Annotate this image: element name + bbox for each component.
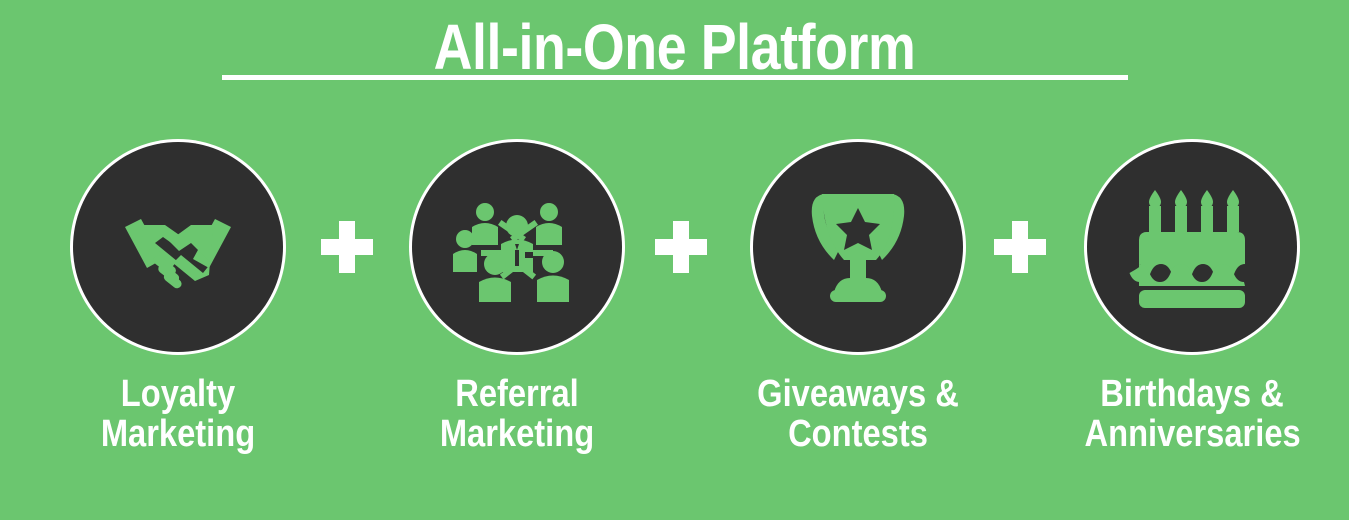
pillar-referral-marketing[interactable]: Referral Marketing [392, 142, 642, 454]
pillar-icon-circle [753, 142, 963, 352]
plus-separator-2 [655, 221, 707, 273]
pillar-giveaways-contests[interactable]: Giveaways & Contests [733, 142, 983, 454]
header: All-in-One Platform [0, 14, 1349, 80]
title-underline [222, 75, 1128, 80]
pillar-icon-circle [73, 142, 283, 352]
pillar-label: Giveaways & Contests [751, 374, 966, 454]
pillar-label: Birthdays & Anniversaries [1085, 374, 1300, 454]
pillar-loyalty-marketing[interactable]: Loyalty Marketing [53, 142, 303, 454]
plus-separator-1 [321, 221, 373, 273]
pillar-row: Loyalty Marketing [0, 142, 1349, 502]
pillar-icon-circle [412, 142, 622, 352]
plus-separator-3 [994, 221, 1046, 273]
pillar-birthdays-anniversaries[interactable]: Birthdays & Anniversaries [1067, 142, 1317, 454]
referral-network-icon [453, 192, 581, 302]
birthday-cake-icon [1129, 186, 1255, 308]
handshake-icon [119, 205, 237, 289]
trophy-icon [806, 188, 910, 306]
infographic-banner: All-in-One Platform [0, 0, 1349, 520]
pillar-label: Referral Marketing [410, 374, 625, 454]
pillar-label: Loyalty Marketing [71, 374, 286, 454]
page-title: All-in-One Platform [108, 14, 1241, 80]
pillar-icon-circle [1087, 142, 1297, 352]
